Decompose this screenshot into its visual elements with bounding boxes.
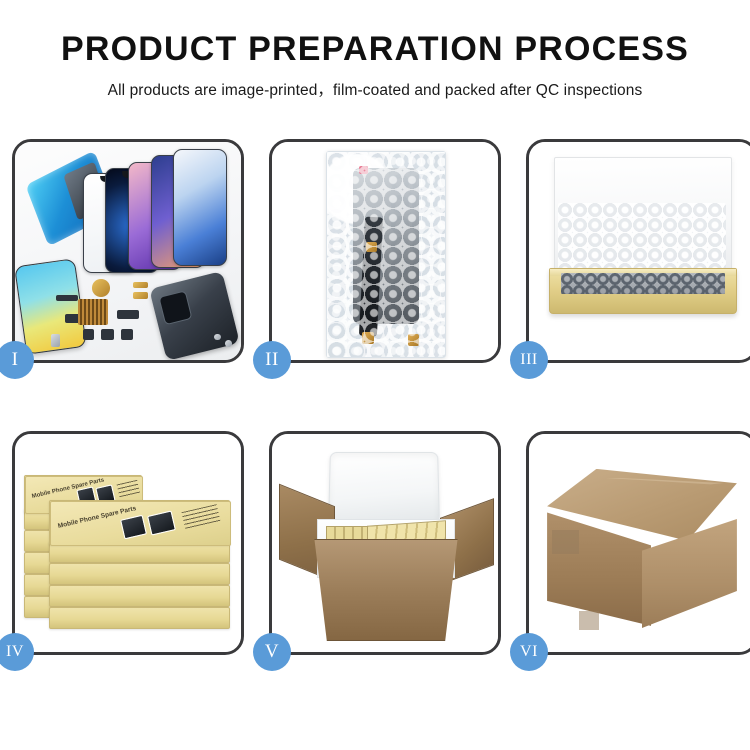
box-stack: Mobile Phone Spare Parts Mobile Phone Sp… (24, 460, 232, 643)
process-step-card-2: II (269, 139, 501, 363)
stack-box-top-b: Mobile Phone Spare Parts (49, 500, 230, 544)
part-flex-cable-b (117, 310, 140, 319)
box-screen-image-b2 (147, 511, 176, 536)
step-badge-4: IV (0, 633, 34, 671)
step-badge-3: III (510, 341, 548, 379)
box-screen-image-b1 (121, 514, 148, 538)
process-steps-grid: I II (12, 139, 738, 655)
box-text-block-a (117, 480, 141, 499)
stacked-retail-boxes-image: Mobile Phone Spare Parts Mobile Phone Sp… (15, 434, 241, 652)
process-step-card-6: VI (526, 431, 750, 655)
phone-parts-spread-image (15, 142, 241, 360)
process-step-card-3: III (526, 139, 750, 363)
step-badge-5: V (253, 633, 291, 671)
process-step-card-4: Mobile Phone Spare Parts Mobile Phone Sp… (12, 431, 244, 655)
sealed-shipping-carton-image (529, 434, 750, 652)
part-flex-gold-b (133, 292, 149, 299)
part-vibrator-motor (92, 279, 110, 296)
tape-edge-upper (552, 530, 579, 554)
part-button-module (121, 329, 132, 340)
stack-box-r3 (49, 585, 230, 607)
process-step-card-1: I (12, 139, 244, 363)
bubble-wrap-bag (326, 151, 446, 358)
product-preparation-process-page: PRODUCT PREPARATION PROCESS All products… (0, 0, 750, 750)
lcd-connector-b (362, 332, 374, 344)
part-speaker-module (101, 329, 115, 340)
stack-box-r2 (49, 563, 230, 585)
part-earpiece-mesh (56, 295, 79, 302)
bubble-wrapped-contents (561, 273, 724, 294)
lcd-connector-a (366, 242, 377, 252)
step-badge-2: II (253, 341, 291, 379)
page-header: PRODUCT PREPARATION PROCESS All products… (0, 0, 750, 100)
page-title: PRODUCT PREPARATION PROCESS (0, 30, 750, 69)
part-screw-a (225, 340, 232, 347)
part-camera-module (83, 329, 94, 340)
carton-with-foam-liner-image (272, 434, 498, 652)
part-connector-grid (78, 299, 107, 325)
step-badge-6: VI (510, 633, 548, 671)
foam-lid (328, 452, 440, 523)
part-screw-b (214, 334, 221, 341)
small-parts-group (15, 142, 241, 360)
tape-edge-lower (579, 611, 599, 631)
lcd-connector-c (408, 334, 419, 346)
box-lid-b: Mobile Phone Spare Parts (50, 501, 231, 545)
stack-box-r4 (49, 607, 230, 629)
process-step-card-5: V (269, 431, 501, 655)
box-text-block-b (182, 505, 221, 530)
yellow-tray-box (549, 268, 736, 314)
step-badge-1: I (0, 341, 34, 379)
part-flex-gold-a (133, 282, 149, 289)
pink-label-tab (359, 166, 368, 174)
carton-body (308, 539, 464, 641)
open-yellow-tray-box-image (529, 142, 750, 360)
foam-sheet (558, 203, 725, 275)
part-sim-tray (51, 334, 60, 347)
page-subtitle: All products are image-printed，film-coat… (0, 78, 750, 100)
bubble-wrapped-lcd-image (272, 142, 498, 360)
carton-right-face (642, 519, 737, 628)
